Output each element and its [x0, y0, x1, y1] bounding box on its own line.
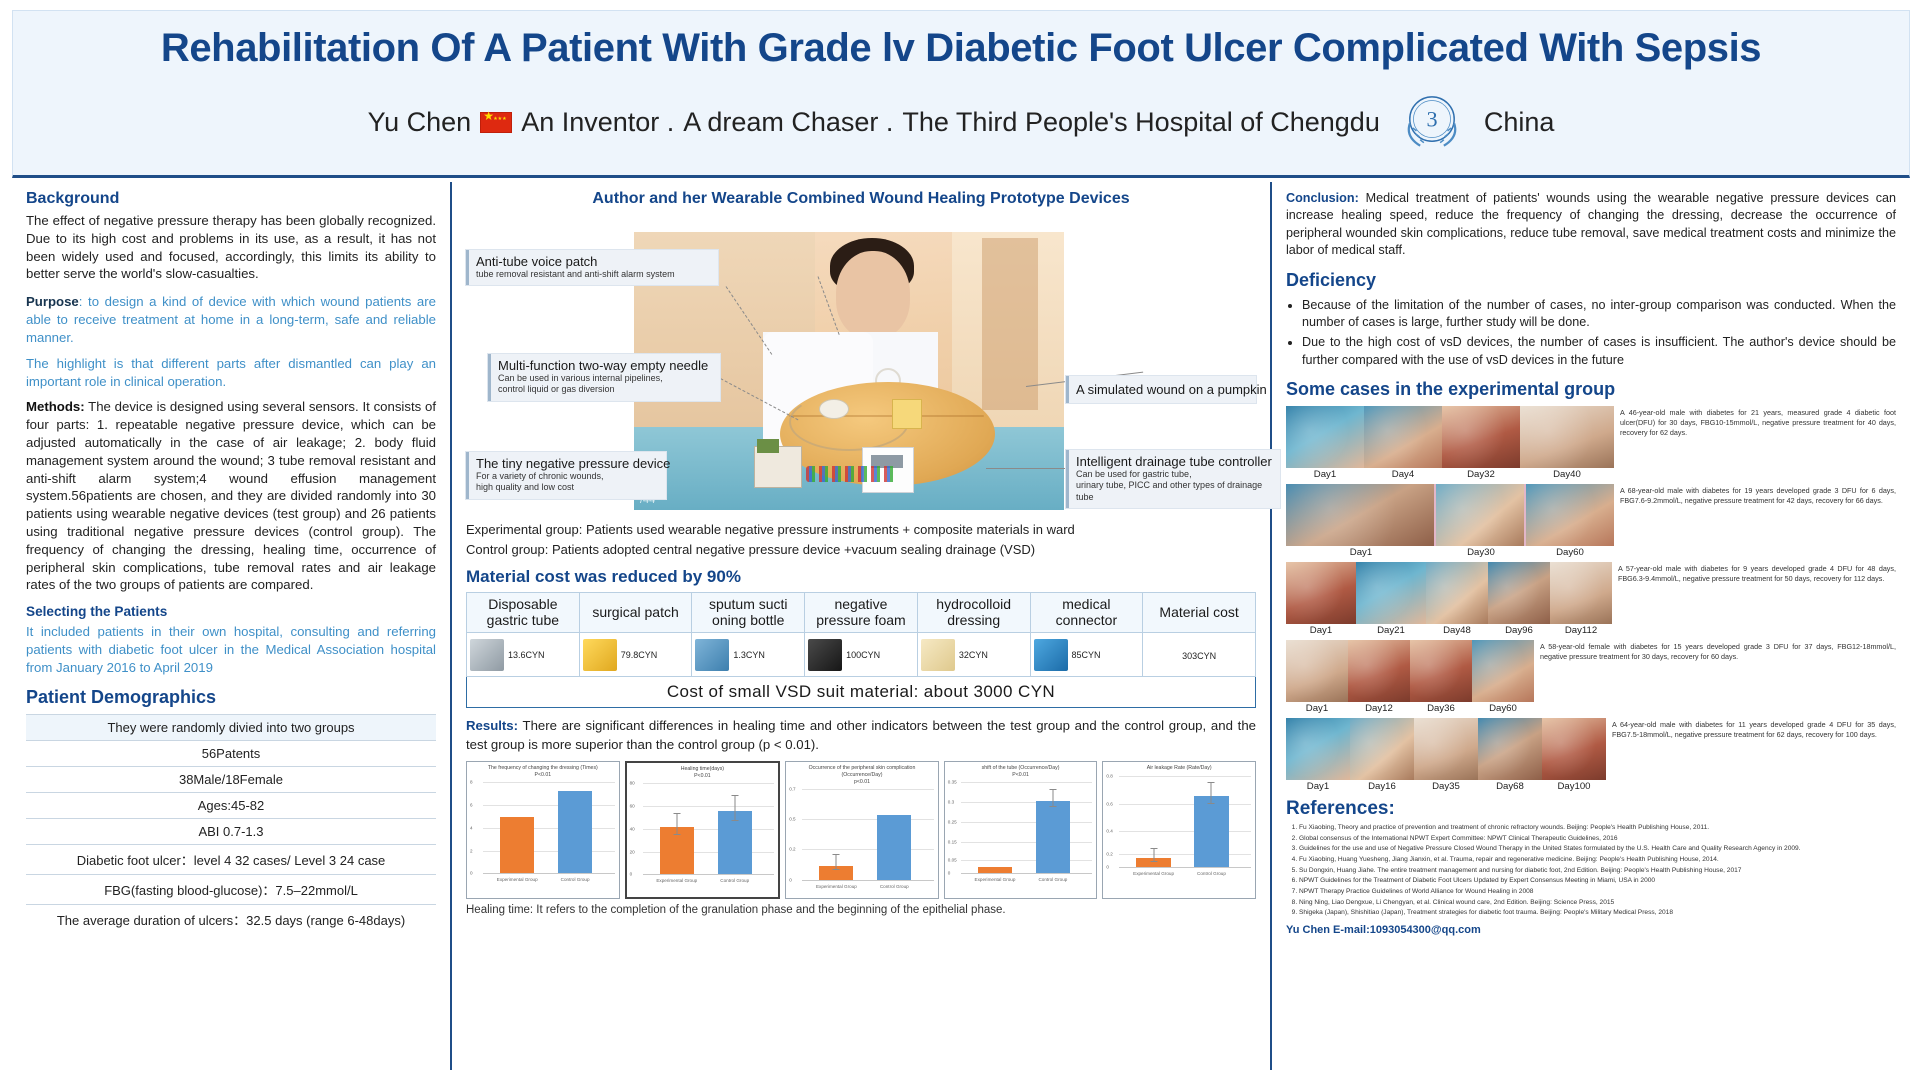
- bar-control: [1194, 796, 1228, 867]
- demographics-cell: Diabetic foot ulcer：level 4 32 cases/ Le…: [26, 844, 436, 874]
- chart-dressing-frequency: The frequency of changing the dressing (…: [466, 761, 620, 899]
- chart-xtick: Control Group: [1029, 877, 1076, 882]
- svg-text:3: 3: [1426, 106, 1437, 131]
- day-label: Day1: [1286, 781, 1350, 792]
- day-label: Day1: [1286, 703, 1348, 714]
- case-photo: [1286, 640, 1348, 702]
- callout-two-way-needle: Multi-function two-way empty needle Can …: [488, 354, 720, 401]
- photo-wires: [806, 466, 896, 482]
- case-row: Day1 Day4 Day32 Day40 A 46-year-old male…: [1286, 406, 1896, 480]
- chart-plot-area: 0.80.6 0.40.2 0 Experimental Group Contr…: [1119, 776, 1251, 868]
- author-name: Yu Chen: [368, 107, 472, 138]
- day-label: Day12: [1348, 703, 1410, 714]
- results-text: There are significant differences in hea…: [466, 718, 1256, 751]
- references-list: Fu Xiaobing, Theory and practice of prev…: [1299, 823, 1896, 919]
- cost-cell: 1.3CYN: [692, 633, 805, 677]
- patient-demographics-table: They were randomly divied into two group…: [26, 714, 436, 934]
- poster-columns: Background The effect of negative pressu…: [12, 182, 1910, 1070]
- day-label: Day36: [1410, 703, 1472, 714]
- bar-control: [558, 791, 592, 873]
- control-group-text: Control group: Patients adopted central …: [466, 540, 1256, 560]
- callout-title: The tiny negative pressure device: [476, 456, 659, 471]
- case-image-group: Day1 Day12 Day36 Day60: [1286, 640, 1534, 714]
- chart-title: Occurrence of the peripheral skin compli…: [788, 765, 936, 779]
- chart-title: Air leakage Rate (Rate/Day): [1105, 765, 1253, 772]
- case-day-labels: Day1 Day16 Day35 Day68 Day100: [1286, 781, 1606, 792]
- healing-time-note: Healing time: It refers to the completio…: [466, 904, 1256, 916]
- cost-price: 1.3CYN: [733, 650, 765, 660]
- chart-xtick: Experimental Group: [653, 878, 700, 883]
- highlight-text: The highlight is that different parts af…: [26, 355, 436, 391]
- material-cost-heading: Material cost was reduced by 90%: [466, 567, 1256, 587]
- day-label: Day16: [1350, 781, 1414, 792]
- day-label: Day35: [1414, 781, 1478, 792]
- case-image-group: Day1 Day16 Day35 Day68 Day100: [1286, 718, 1606, 792]
- chart-plot-area: 0.70.5 0.20 Experimental Group Control G…: [802, 789, 934, 881]
- chart-annotation: P<0.01: [947, 772, 1095, 778]
- cost-cell: 85CYN: [1030, 633, 1143, 677]
- case-photo: [1542, 718, 1606, 780]
- case-day-labels: Day1 Day12 Day36 Day60: [1286, 703, 1534, 714]
- middle-column: Author and her Wearable Combined Wound H…: [452, 182, 1272, 1070]
- case-image-strip: [1286, 562, 1612, 624]
- case-photo: [1286, 718, 1350, 780]
- case-photo: [1488, 562, 1550, 624]
- chart-annotation: P<0.01: [629, 773, 777, 779]
- purpose-text: : to design a kind of device with which …: [26, 294, 436, 345]
- affiliation: The Third People's Hospital of Chengdu: [902, 107, 1379, 138]
- list-item: Due to the high cost of vsD devices, the…: [1302, 334, 1896, 369]
- table-row: ABI 0.7-1.3: [26, 818, 436, 844]
- chart-title: shift of the tube (Occurrence/Day): [947, 765, 1095, 772]
- case-photo: [1526, 484, 1614, 546]
- case-photo: [1364, 406, 1442, 468]
- chart-title: The frequency of changing the dressing (…: [469, 765, 617, 772]
- conclusion-paragraph: Conclusion: Medical treatment of patient…: [1286, 190, 1896, 260]
- callout-title: Anti-tube voice patch: [476, 254, 711, 269]
- day-label: Day32: [1442, 469, 1520, 480]
- day-label: Day4: [1364, 469, 1442, 480]
- chart-tube-shift: shift of the tube (Occurrence/Day) P<0.0…: [944, 761, 1098, 899]
- table-row: Diabetic foot ulcer：level 4 32 cases/ Le…: [26, 844, 436, 874]
- case-image-group: Day1 Day21 Day48 Day96 Day112: [1286, 562, 1612, 636]
- prototype-photo-heading: Author and her Wearable Combined Wound H…: [466, 190, 1256, 208]
- page-title: Rehabilitation Of A Patient With Grade l…: [161, 27, 1761, 69]
- callout-title: A simulated wound on a pumpkin: [1076, 382, 1249, 397]
- table-row: The average duration of ulcers：32.5 days…: [26, 904, 436, 934]
- callout-subtitle: tube removal resistant and anti-shift al…: [476, 269, 711, 280]
- case-photo: [1356, 562, 1426, 624]
- bar-experimental: [500, 817, 534, 873]
- cases-heading: Some cases in the experimental group: [1286, 379, 1896, 400]
- list-item: NPWT Guidelines for the Treatment of Dia…: [1299, 876, 1896, 887]
- photo-tiny-pressure-device: [754, 446, 802, 488]
- references-heading: References:: [1286, 798, 1896, 820]
- case-description: A 58-year-old female with diabetes for 1…: [1540, 640, 1896, 662]
- day-label: Day30: [1436, 547, 1526, 558]
- cost-table-body: 13.6CYN 79.8CYN 1.3CYN 100CYN 32CYN 85CY…: [467, 633, 1256, 677]
- results-paragraph: Results: There are significant differenc…: [466, 717, 1256, 754]
- case-image-strip: [1286, 640, 1534, 702]
- conclusion-label: Conclusion:: [1286, 191, 1359, 205]
- chart-xtick: Experimental Group: [1130, 871, 1177, 876]
- table-row: Ages:45-82: [26, 792, 436, 818]
- case-row: Day1 Day30 Day60 A 68-year-old male with…: [1286, 484, 1896, 558]
- case-image-strip: [1286, 406, 1614, 468]
- day-label: Day1: [1286, 625, 1356, 636]
- purpose-label: Purpose: [26, 294, 79, 309]
- prototype-photo-area: /44 Anti-tube voice patch tube removal r…: [466, 214, 1256, 514]
- group-definitions: Experimental group: Patients used wearab…: [466, 520, 1256, 559]
- day-label: Day112: [1550, 625, 1612, 636]
- cost-cell: 13.6CYN: [467, 633, 580, 677]
- photo-device-circuit: [757, 439, 779, 453]
- list-item: Fu Xiaobing, Theory and practice of prev…: [1299, 823, 1896, 834]
- case-photo: [1520, 406, 1614, 468]
- photo-door: [982, 238, 1038, 410]
- cost-total-row: Cost of small VSD suit material: about 3…: [466, 677, 1256, 708]
- chart-plot-area: 8060 4020 0 Experimental Group Control G…: [643, 783, 775, 875]
- demographics-cell: 56Patents: [26, 740, 436, 766]
- case-photo: [1414, 718, 1478, 780]
- cost-price: 85CYN: [1072, 650, 1101, 660]
- cost-price: 100CYN: [846, 650, 880, 660]
- chart-healing-time: Healing time(days) P<0.01 8060 4020 0 Ex…: [625, 761, 781, 899]
- bar-experimental: [819, 866, 853, 881]
- author-affiliation-line: Yu Chen An Inventor . A dream Chaser . T…: [368, 85, 1555, 159]
- list-item: Shigeka (Japan), Shishitiao (Japan), Tre…: [1299, 908, 1896, 919]
- poster-header: Rehabilitation Of A Patient With Grade l…: [12, 10, 1910, 178]
- right-column: Conclusion: Medical treatment of patient…: [1272, 182, 1910, 1070]
- cost-cell: 303CYN: [1143, 633, 1256, 677]
- table-row: 56Patents: [26, 740, 436, 766]
- photo-anti-tube-patch: [819, 399, 849, 419]
- case-photo: [1410, 640, 1472, 702]
- photo-person-head: [836, 251, 910, 339]
- bar-experimental: [1136, 858, 1170, 867]
- cost-table-head: Disposable gastric tube surgical patch s…: [467, 593, 1256, 633]
- case-description: A 57-year-old male with diabetes for 9 y…: [1618, 562, 1896, 584]
- list-item: Fu Xiaobing, Huang Yuesheng, Jiang Jianx…: [1299, 855, 1896, 866]
- chart-plot-area: 86 42 0 Experimental Group Control Group: [483, 782, 615, 874]
- purpose-paragraph: Purpose: to design a kind of device with…: [26, 293, 436, 346]
- bar-control: [718, 811, 752, 875]
- experimental-group-text: Experimental group: Patients used wearab…: [466, 520, 1256, 540]
- demographics-cell: FBG(fasting blood-glucose)：7.5–22mmol/L: [26, 874, 436, 904]
- callout-subtitle: Can be used for gastric tube, urinary tu…: [1076, 469, 1273, 503]
- case-photo: [1472, 640, 1534, 702]
- selecting-patients-text: It included patients in their own hospit…: [26, 623, 436, 676]
- day-label: Day1: [1286, 547, 1436, 558]
- callout-title: Multi-function two-way empty needle: [498, 358, 713, 373]
- author-role-1: An Inventor .: [521, 107, 674, 138]
- table-row: Disposable gastric tube surgical patch s…: [467, 593, 1256, 633]
- case-description: A 68-year-old male with diabetes for 19 …: [1620, 484, 1896, 506]
- conclusion-text: Medical treatment of patients' wounds us…: [1286, 191, 1896, 257]
- chart-annotation: p<0.01: [788, 779, 936, 785]
- chart-xtick: Experimental Group: [813, 884, 860, 889]
- list-item: Because of the limitation of the number …: [1302, 297, 1896, 332]
- case-row: Day1 Day16 Day35 Day68 Day100 A 64-year-…: [1286, 718, 1896, 792]
- case-photo: [1350, 718, 1414, 780]
- cost-price: 32CYN: [959, 650, 988, 660]
- demographics-tbody: They were randomly divied into two group…: [26, 714, 436, 934]
- case-photo: [1550, 562, 1612, 624]
- bar-control: [1036, 801, 1070, 874]
- photo-simulated-wound: [892, 399, 922, 429]
- patient-demographics-heading: Patient Demographics: [26, 687, 436, 708]
- photo-drainage-tube: [789, 393, 909, 451]
- foam-thumb-icon: [808, 639, 842, 671]
- callout-subtitle: For a variety of chronic wounds, high qu…: [476, 471, 659, 494]
- selecting-patients-heading: Selecting the Patients: [26, 604, 436, 619]
- case-day-labels: Day1 Day21 Day48 Day96 Day112: [1286, 625, 1612, 636]
- case-photo: [1436, 484, 1526, 546]
- table-row: FBG(fasting blood-glucose)：7.5–22mmol/L: [26, 874, 436, 904]
- demographics-cell: They were randomly divied into two group…: [26, 714, 436, 740]
- case-description: A 46-year-old male with diabetes for 21 …: [1620, 406, 1896, 439]
- cost-cell: 79.8CYN: [579, 633, 692, 677]
- callout-subtitle: Can be used in various internal pipeline…: [498, 373, 713, 396]
- background-text: The effect of negative pressure therapy …: [26, 212, 436, 283]
- bar-experimental: [660, 827, 694, 874]
- country: China: [1484, 107, 1555, 138]
- background-heading: Background: [26, 190, 436, 208]
- material-cost-table: Disposable gastric tube surgical patch s…: [466, 592, 1256, 677]
- bar-control: [877, 815, 911, 881]
- results-label: Results:: [466, 718, 518, 733]
- methods-label: Methods:: [26, 399, 85, 414]
- chart-xtick: Experimental Group: [971, 877, 1018, 882]
- case-image-strip: [1286, 484, 1614, 546]
- surgical-patch-thumb-icon: [583, 639, 617, 671]
- case-photo: [1442, 406, 1520, 468]
- day-label: Day60: [1472, 703, 1534, 714]
- day-label: Day68: [1478, 781, 1542, 792]
- left-column: Background The effect of negative pressu…: [12, 182, 452, 1070]
- cost-price: 303CYN: [1182, 651, 1216, 661]
- callout-drainage-controller: Intelligent drainage tube controller Can…: [1066, 450, 1280, 508]
- case-image-group: Day1 Day30 Day60: [1286, 484, 1614, 558]
- contact-email[interactable]: Yu Chen E-mail:1093054300@qq.com: [1286, 924, 1896, 936]
- callout-title: Intelligent drainage tube controller: [1076, 454, 1273, 469]
- cost-col-header: hydrocolloid dressing: [917, 593, 1030, 633]
- deficiency-heading: Deficiency: [1286, 270, 1896, 291]
- day-label: Day40: [1520, 469, 1614, 480]
- demographics-cell: 38Male/18Female: [26, 766, 436, 792]
- demographics-cell: Ages:45-82: [26, 792, 436, 818]
- case-row: Day1 Day21 Day48 Day96 Day112 A 57-year-…: [1286, 562, 1896, 636]
- chart-annotation: P<0.01: [469, 772, 617, 778]
- case-photo: [1286, 406, 1364, 468]
- china-flag-icon: [480, 112, 512, 133]
- list-item: Global consensus of the International NP…: [1299, 834, 1896, 845]
- methods-text: The device is designed using several sen…: [26, 399, 436, 592]
- case-image-group: Day1 Day4 Day32 Day40: [1286, 406, 1614, 480]
- cost-col-header: Material cost: [1143, 593, 1256, 633]
- case-row: Day1 Day12 Day36 Day60 A 58-year-old fem…: [1286, 640, 1896, 714]
- day-label: Day1: [1286, 469, 1364, 480]
- chart-title: Healing time(days): [629, 766, 777, 773]
- chart-xtick: Control Group: [551, 877, 598, 882]
- cost-col-header: sputum sucti oning bottle: [692, 593, 805, 633]
- case-photo: [1426, 562, 1488, 624]
- methods-paragraph: Methods: The device is designed using se…: [26, 398, 436, 594]
- connector-thumb-icon: [1034, 639, 1068, 671]
- author-role-2: A dream Chaser .: [683, 107, 893, 138]
- chart-xtick: Control Group: [871, 884, 918, 889]
- case-description: A 64-year-old male with diabetes for 11 …: [1612, 718, 1896, 740]
- case-image-strip: [1286, 718, 1606, 780]
- case-photo: [1348, 640, 1410, 702]
- callout-anti-tube-voice-patch: Anti-tube voice patch tube removal resis…: [466, 250, 718, 285]
- day-label: Day48: [1426, 625, 1488, 636]
- list-item: NPWT Therapy Practice Guidelines of Worl…: [1299, 887, 1896, 898]
- chart-xtick: Control Group: [711, 878, 758, 883]
- day-label: Day21: [1356, 625, 1426, 636]
- cost-col-header: negative pressure foam: [805, 593, 918, 633]
- demographics-cell: The average duration of ulcers：32.5 days…: [26, 904, 436, 934]
- cost-cell: 32CYN: [917, 633, 1030, 677]
- chart-air-leakage: Air leakage Rate (Rate/Day) 0.80.6 0.40.…: [1102, 761, 1256, 899]
- bar-experimental: [978, 867, 1012, 873]
- cost-col-header: Disposable gastric tube: [467, 593, 580, 633]
- case-photo: [1286, 484, 1436, 546]
- table-row: 13.6CYN 79.8CYN 1.3CYN 100CYN 32CYN 85CY…: [467, 633, 1256, 677]
- chart-xtick: Experimental Group: [494, 877, 541, 882]
- deficiency-list: Because of the limitation of the number …: [1302, 297, 1896, 370]
- cost-cell: 100CYN: [805, 633, 918, 677]
- poster-root: Rehabilitation Of A Patient With Grade l…: [0, 0, 1922, 1080]
- cost-price: 79.8CYN: [621, 650, 658, 660]
- day-label: Day96: [1488, 625, 1550, 636]
- case-day-labels: Day1 Day30 Day60: [1286, 547, 1614, 558]
- gastric-tube-thumb-icon: [470, 639, 504, 671]
- case-day-labels: Day1 Day4 Day32 Day40: [1286, 469, 1614, 480]
- cost-col-header: medical connector: [1030, 593, 1143, 633]
- callout-simulated-wound: A simulated wound on a pumpkin: [1066, 376, 1256, 403]
- hospital-emblem-icon: 3: [1395, 85, 1469, 159]
- day-label: Day100: [1542, 781, 1606, 792]
- chart-plot-area: 0.350.3 0.250.15 0.050 Experimental Grou…: [961, 782, 1093, 874]
- table-row: They were randomly divied into two group…: [26, 714, 436, 740]
- list-item: Su Dongxin, Huang Jiahe. The entire trea…: [1299, 866, 1896, 877]
- list-item: Ning Ning, Liao Dengxue, Li Chengyan, et…: [1299, 898, 1896, 909]
- demographics-cell: ABI 0.7-1.3: [26, 818, 436, 844]
- case-photo: [1286, 562, 1356, 624]
- chart-skin-complication: Occurrence of the peripheral skin compli…: [785, 761, 939, 899]
- results-charts: The frequency of changing the dressing (…: [466, 761, 1256, 899]
- dressing-thumb-icon: [921, 639, 955, 671]
- cost-col-header: surgical patch: [579, 593, 692, 633]
- day-label: Day60: [1526, 547, 1614, 558]
- cost-price: 13.6CYN: [508, 650, 545, 660]
- table-row: 38Male/18Female: [26, 766, 436, 792]
- case-photo: [1478, 718, 1542, 780]
- suction-bottle-thumb-icon: [695, 639, 729, 671]
- list-item: Guidelines for the use and use of Negati…: [1299, 844, 1896, 855]
- chart-xtick: Control Group: [1188, 871, 1235, 876]
- callout-tiny-pressure-device: The tiny negative pressure device For a …: [466, 452, 666, 499]
